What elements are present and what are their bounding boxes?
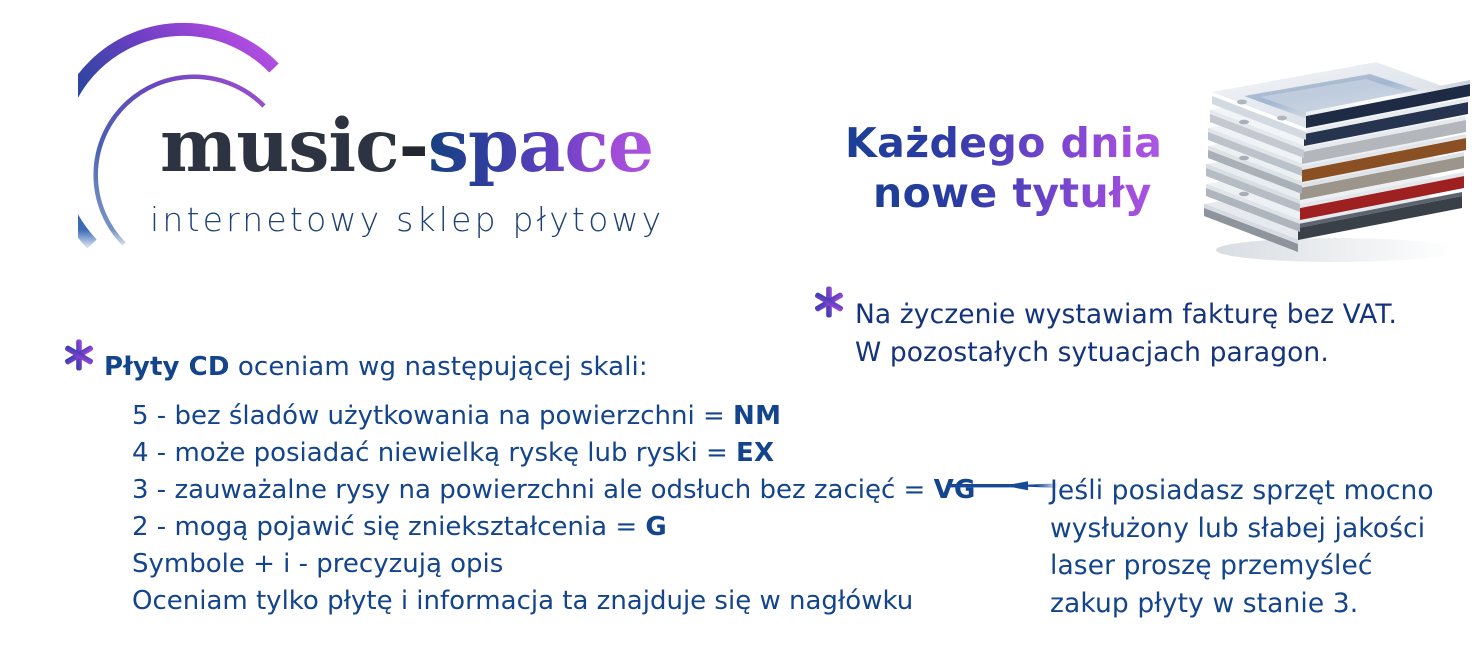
invoice-note: Na życzenie wystawiam fakturę bez VAT. W… [855,296,1397,371]
arrow-right-icon [946,472,1058,500]
scale-row: Oceniam tylko płytę i informacja ta znaj… [132,583,976,620]
scale-row-grade: NM [733,401,781,431]
invoice-note-line-1: Na życzenie wystawiam fakturę bez VAT. [855,296,1397,334]
scale-row-text: Oceniam tylko płytę i informacja ta znaj… [132,586,913,616]
logo-tagline: internetowy sklep płytowy [150,200,664,239]
logo-word-space: space [428,103,653,189]
advice-line-3: laser proszę przemyśleć [1050,547,1434,585]
slogan: Każdego dnia nowe tytuły [845,118,1162,218]
slogan-line-1: Każdego dnia [845,118,1162,168]
invoice-note-line-2: W pozostałych sytuacjach paragon. [855,334,1397,372]
advice-line-4: zakup płyty w stanie 3. [1050,585,1434,623]
scale-row: 5 - bez śladów użytkowania na powierzchn… [132,398,976,435]
advice-line-1: Jeśli posiadasz sprzęt mocno [1050,472,1434,510]
scale-row-text: 3 - zauważalne rysy na powierzchni ale o… [132,475,934,505]
scale-heading: Płyty CD oceniam wg następującej skali: [104,352,648,382]
advice-line-2: wysłużony lub słabej jakości [1050,510,1434,548]
slogan-line-2: nowe tytuły [873,168,1162,218]
scale-heading-bold: Płyty CD [104,352,230,382]
asterisk-bullet-icon [812,285,846,319]
site-logo[interactable]: music-space internetowy sklep płytowy [78,22,758,252]
scale-row: 2 - mogą pojawić się zniekształcenia = G [132,509,976,546]
scale-row-text: 5 - bez śladów użytkowania na powierzchn… [132,401,733,431]
scale-row-text: 4 - może posiadać niewielką ryskę lub ry… [132,438,736,468]
asterisk-bullet-icon [62,338,96,372]
advice-note: Jeśli posiadasz sprzęt mocno wysłużony l… [1050,472,1434,623]
scale-row: 4 - może posiadać niewielką ryskę lub ry… [132,435,976,472]
scale-row-grade: G [645,512,667,542]
logo-wordmark: music-space [160,110,653,183]
scale-row: Symbole + i - precyzują opis [132,546,976,583]
scale-heading-rest: oceniam wg następującej skali: [230,352,648,382]
cd-stack-image [1186,52,1478,264]
logo-word-dash: - [399,103,428,189]
scale-row-text: Symbole + i - precyzują opis [132,549,503,579]
logo-word-music: music [160,103,399,189]
promo-banner: music-space internetowy sklep płytowy Ka… [0,0,1481,655]
scale-list: 5 - bez śladów użytkowania na powierzchn… [132,398,976,619]
scale-row: 3 - zauważalne rysy na powierzchni ale o… [132,472,976,509]
scale-row-grade: EX [736,438,774,468]
scale-row-text: 2 - mogą pojawić się zniekształcenia = [132,512,645,542]
